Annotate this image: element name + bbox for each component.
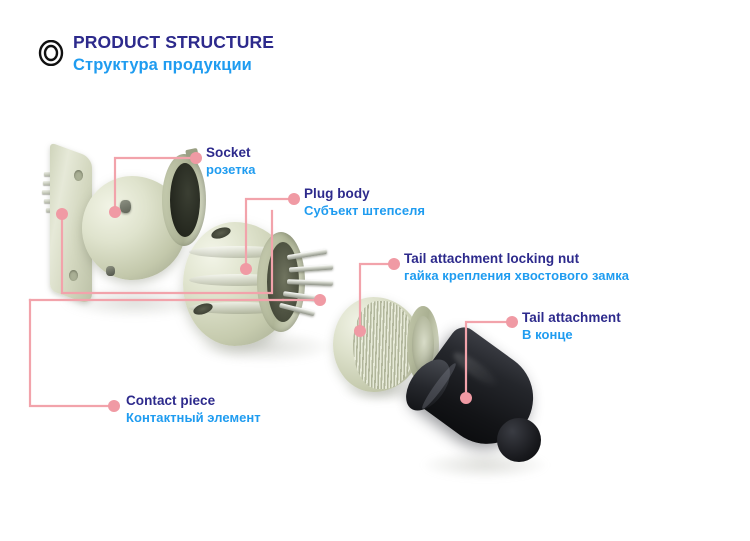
callout-locking-nut: Tail attachment locking nut гайка крепле… [404,252,629,282]
callout-locking-nut-label-en: Tail attachment locking nut [404,252,629,266]
socket-alignment-stud [120,200,131,213]
callout-contact-piece: Contact piece Контактный элемент [126,394,261,424]
callout-tail-attachment: Tail attachment В конце [522,311,621,341]
rubber-tail-boot [405,340,565,490]
callout-socket-label-ru: розетка [206,163,256,176]
callout-socket-label-en: Socket [206,146,256,160]
flange-hole-icon [74,170,83,181]
flange-hole-icon [69,270,78,281]
callout-contact-piece-label-ru: Контактный элемент [126,411,261,424]
socket-alignment-stud [106,266,115,276]
callout-contact-piece-label-en: Contact piece [126,394,261,408]
product-photo-stage [0,0,750,541]
callout-plug-body-label-ru: Субъект штепселя [304,204,425,217]
socket-keyway [185,148,199,159]
callout-plug-body: Plug body Субъект штепселя [304,187,425,217]
product-structure-diagram: PRODUCT STRUCTURE Структура продукции [0,0,750,541]
callout-tail-attachment-label-en: Tail attachment [522,311,621,325]
boot-tip [497,418,541,462]
plug-body-connector [183,216,343,366]
callout-locking-nut-label-ru: гайка крепления хвостового замка [404,269,629,282]
callout-tail-attachment-label-ru: В конце [522,328,621,341]
callout-plug-body-label-en: Plug body [304,187,425,201]
socket-receptacle [44,148,204,313]
callout-socket: Socket розетка [206,146,256,176]
